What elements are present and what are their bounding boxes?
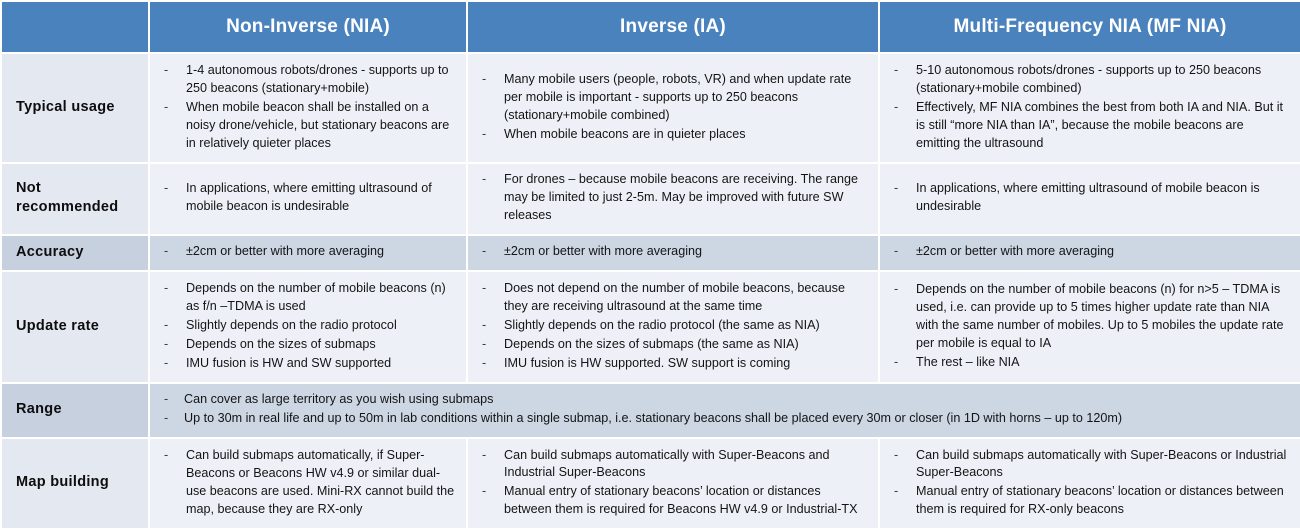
row-cell-multi-frequency: -Depends on the number of mobile beacons… <box>879 271 1300 383</box>
row-cell-inverse: -Does not depend on the number of mobile… <box>467 271 879 383</box>
bullet-text: In applications, where emitting ultrasou… <box>186 181 432 213</box>
row-cell-all-columns: -Can cover as large territory as you wis… <box>149 383 1300 438</box>
bullet-text: For drones – because mobile beacons are … <box>504 172 858 222</box>
row-cell-multi-frequency: -In applications, where emitting ultraso… <box>879 163 1300 235</box>
row-label: Map building <box>1 438 149 529</box>
bullet-dash-icon: - <box>894 180 898 198</box>
bullet-item: -Depends on the number of mobile beacons… <box>890 281 1290 353</box>
bullet-text: The rest – like NIA <box>916 355 1020 369</box>
bullet-dash-icon: - <box>482 447 486 465</box>
row-cell-multi-frequency: -Can build submaps automatically with Su… <box>879 438 1300 529</box>
bullet-item: -5-10 autonomous robots/drones - support… <box>890 62 1290 98</box>
bullet-list: -In applications, where emitting ultraso… <box>890 180 1290 216</box>
table-row: Map building-Can build submaps automatic… <box>1 438 1300 529</box>
bullet-text: 1-4 autonomous robots/drones - supports … <box>186 63 449 95</box>
bullet-item: -1-4 autonomous robots/drones - supports… <box>160 62 456 98</box>
bullet-text: Does not depend on the number of mobile … <box>504 281 845 313</box>
bullet-dash-icon: - <box>164 243 168 261</box>
bullet-dash-icon: - <box>894 243 898 261</box>
bullet-item: -Can build submaps automatically, if Sup… <box>160 447 456 519</box>
row-cell-inverse: -For drones – because mobile beacons are… <box>467 163 879 235</box>
bullet-item: -Can build submaps automatically with Su… <box>890 447 1290 483</box>
row-cell-inverse: -Can build submaps automatically with Su… <box>467 438 879 529</box>
row-label: Range <box>1 383 149 438</box>
table-row: Typical usage-1-4 autonomous robots/dron… <box>1 53 1300 163</box>
bullet-list: -5-10 autonomous robots/drones - support… <box>890 62 1290 152</box>
bullet-dash-icon: - <box>894 354 898 372</box>
table-row: Update rate-Depends on the number of mob… <box>1 271 1300 383</box>
bullet-list: -±2cm or better with more averaging <box>160 243 456 261</box>
bullet-text: ±2cm or better with more averaging <box>186 244 384 258</box>
bullet-dash-icon: - <box>482 126 486 144</box>
bullet-text: 5-10 autonomous robots/drones - supports… <box>916 63 1261 95</box>
bullet-dash-icon: - <box>164 355 168 373</box>
row-label: Not recommended <box>1 163 149 235</box>
bullet-dash-icon: - <box>164 447 168 465</box>
bullet-list: -Depends on the number of mobile beacons… <box>890 281 1290 371</box>
bullet-item: -±2cm or better with more averaging <box>478 243 868 261</box>
header-col-inverse: Inverse (IA) <box>467 1 879 53</box>
table-body: Typical usage-1-4 autonomous robots/dron… <box>1 53 1300 529</box>
bullet-text: Effectively, MF NIA combines the best fr… <box>916 100 1283 150</box>
bullet-item: -IMU fusion is HW and SW supported <box>160 355 456 373</box>
bullet-text: In applications, where emitting ultrasou… <box>916 181 1260 213</box>
row-cell-non-inverse: -Depends on the number of mobile beacons… <box>149 271 467 383</box>
row-cell-multi-frequency: -±2cm or better with more averaging <box>879 235 1300 272</box>
bullet-dash-icon: - <box>894 483 898 501</box>
bullet-item: -Effectively, MF NIA combines the best f… <box>890 99 1290 153</box>
bullet-item: -Up to 30m in real life and up to 50m in… <box>160 410 1290 428</box>
bullet-text: Depends on the sizes of submaps (the sam… <box>504 337 799 351</box>
bullet-text: Manual entry of stationary beacons’ loca… <box>916 484 1284 516</box>
bullet-dash-icon: - <box>894 447 898 465</box>
bullet-list: -Depends on the number of mobile beacons… <box>160 280 456 372</box>
header-col-multi-frequency-nia: Multi-Frequency NIA (MF NIA) <box>879 1 1300 53</box>
row-cell-non-inverse: -In applications, where emitting ultraso… <box>149 163 467 235</box>
bullet-item: -Depends on the sizes of submaps <box>160 336 456 354</box>
bullet-dash-icon: - <box>164 336 168 354</box>
row-cell-non-inverse: -1-4 autonomous robots/drones - supports… <box>149 53 467 163</box>
table-row: Not recommended-In applications, where e… <box>1 163 1300 235</box>
row-cell-inverse: -Many mobile users (people, robots, VR) … <box>467 53 879 163</box>
row-label: Update rate <box>1 271 149 383</box>
bullet-dash-icon: - <box>482 336 486 354</box>
bullet-dash-icon: - <box>894 281 898 299</box>
bullet-text: Manual entry of stationary beacons’ loca… <box>504 484 857 516</box>
bullet-dash-icon: - <box>482 317 486 335</box>
bullet-item: -Depends on the sizes of submaps (the sa… <box>478 336 868 354</box>
bullet-text: Depends on the sizes of submaps <box>186 337 376 351</box>
bullet-text: Can build submaps automatically with Sup… <box>916 448 1286 480</box>
bullet-dash-icon: - <box>164 180 168 198</box>
bullet-item: -In applications, where emitting ultraso… <box>890 180 1290 216</box>
bullet-item: -IMU fusion is HW supported. SW support … <box>478 355 868 373</box>
bullet-text: Can cover as large territory as you wish… <box>184 392 493 406</box>
bullet-dash-icon: - <box>482 243 486 261</box>
row-cell-inverse: -±2cm or better with more averaging <box>467 235 879 272</box>
bullet-dash-icon: - <box>482 280 486 298</box>
bullet-dash-icon: - <box>164 62 168 80</box>
bullet-text: When mobile beacon shall be installed on… <box>186 100 449 150</box>
bullet-item: -±2cm or better with more averaging <box>890 243 1290 261</box>
bullet-dash-icon: - <box>482 171 486 189</box>
table-row: Accuracy-±2cm or better with more averag… <box>1 235 1300 272</box>
bullet-text: Many mobile users (people, robots, VR) a… <box>504 72 851 122</box>
header-corner-cell <box>1 1 149 53</box>
bullet-text: ±2cm or better with more averaging <box>916 244 1114 258</box>
row-cell-non-inverse: -±2cm or better with more averaging <box>149 235 467 272</box>
table-header: Non-Inverse (NIA) Inverse (IA) Multi-Fre… <box>1 1 1300 53</box>
bullet-list: -±2cm or better with more averaging <box>890 243 1290 261</box>
bullet-text: IMU fusion is HW and SW supported <box>186 356 391 370</box>
bullet-list: -Can build submaps automatically with Su… <box>478 447 868 520</box>
bullet-item: -Depends on the number of mobile beacons… <box>160 280 456 316</box>
bullet-text: When mobile beacons are in quieter place… <box>504 127 746 141</box>
bullet-list: -±2cm or better with more averaging <box>478 243 868 261</box>
row-cell-multi-frequency: -5-10 autonomous robots/drones - support… <box>879 53 1300 163</box>
bullet-item: -Manual entry of stationary beacons’ loc… <box>890 483 1290 519</box>
bullet-item: -Can cover as large territory as you wis… <box>160 391 1290 409</box>
bullet-text: Up to 30m in real life and up to 50m in … <box>184 411 1122 425</box>
bullet-item: -When mobile beacons are in quieter plac… <box>478 126 868 144</box>
row-label: Accuracy <box>1 235 149 272</box>
bullet-text: Slightly depends on the radio protocol (… <box>504 318 820 332</box>
bullet-list: -Many mobile users (people, robots, VR) … <box>478 71 868 144</box>
header-row: Non-Inverse (NIA) Inverse (IA) Multi-Fre… <box>1 1 1300 53</box>
bullet-dash-icon: - <box>164 391 168 409</box>
bullet-item: -Does not depend on the number of mobile… <box>478 280 868 316</box>
bullet-text: Depends on the number of mobile beacons … <box>186 281 446 313</box>
bullet-item: -When mobile beacon shall be installed o… <box>160 99 456 153</box>
bullet-item: -For drones – because mobile beacons are… <box>478 171 868 225</box>
bullet-list: -For drones – because mobile beacons are… <box>478 171 868 225</box>
bullet-list: -Can build submaps automatically with Su… <box>890 447 1290 520</box>
bullet-list: -1-4 autonomous robots/drones - supports… <box>160 62 456 152</box>
bullet-dash-icon: - <box>164 99 168 117</box>
bullet-text: Can build submaps automatically with Sup… <box>504 448 830 480</box>
bullet-text: ±2cm or better with more averaging <box>504 244 702 258</box>
bullet-dash-icon: - <box>894 62 898 80</box>
bullet-item: -Slightly depends on the radio protocol <box>160 317 456 335</box>
bullet-item: -Slightly depends on the radio protocol … <box>478 317 868 335</box>
row-label: Typical usage <box>1 53 149 163</box>
bullet-dash-icon: - <box>482 71 486 89</box>
bullet-text: Slightly depends on the radio protocol <box>186 318 397 332</box>
bullet-item: -Many mobile users (people, robots, VR) … <box>478 71 868 125</box>
table-row: Range-Can cover as large territory as yo… <box>1 383 1300 438</box>
bullet-dash-icon: - <box>482 483 486 501</box>
bullet-item: -The rest – like NIA <box>890 354 1290 372</box>
bullet-text: Depends on the number of mobile beacons … <box>916 282 1284 350</box>
bullet-item: -In applications, where emitting ultraso… <box>160 180 456 216</box>
bullet-dash-icon: - <box>164 410 168 428</box>
bullet-list: -In applications, where emitting ultraso… <box>160 180 456 216</box>
bullet-text: Can build submaps automatically, if Supe… <box>186 448 454 516</box>
bullet-item: -±2cm or better with more averaging <box>160 243 456 261</box>
bullet-dash-icon: - <box>164 280 168 298</box>
bullet-list: -Can cover as large territory as you wis… <box>160 391 1290 428</box>
bullet-text: IMU fusion is HW supported. SW support i… <box>504 356 790 370</box>
bullet-dash-icon: - <box>894 99 898 117</box>
row-cell-non-inverse: -Can build submaps automatically, if Sup… <box>149 438 467 529</box>
bullet-dash-icon: - <box>164 317 168 335</box>
bullet-list: -Can build submaps automatically, if Sup… <box>160 447 456 519</box>
bullet-list: -Does not depend on the number of mobile… <box>478 280 868 372</box>
header-col-non-inverse: Non-Inverse (NIA) <box>149 1 467 53</box>
comparison-table: Non-Inverse (NIA) Inverse (IA) Multi-Fre… <box>0 0 1300 530</box>
bullet-item: -Manual entry of stationary beacons’ loc… <box>478 483 868 519</box>
bullet-item: -Can build submaps automatically with Su… <box>478 447 868 483</box>
bullet-dash-icon: - <box>482 355 486 373</box>
